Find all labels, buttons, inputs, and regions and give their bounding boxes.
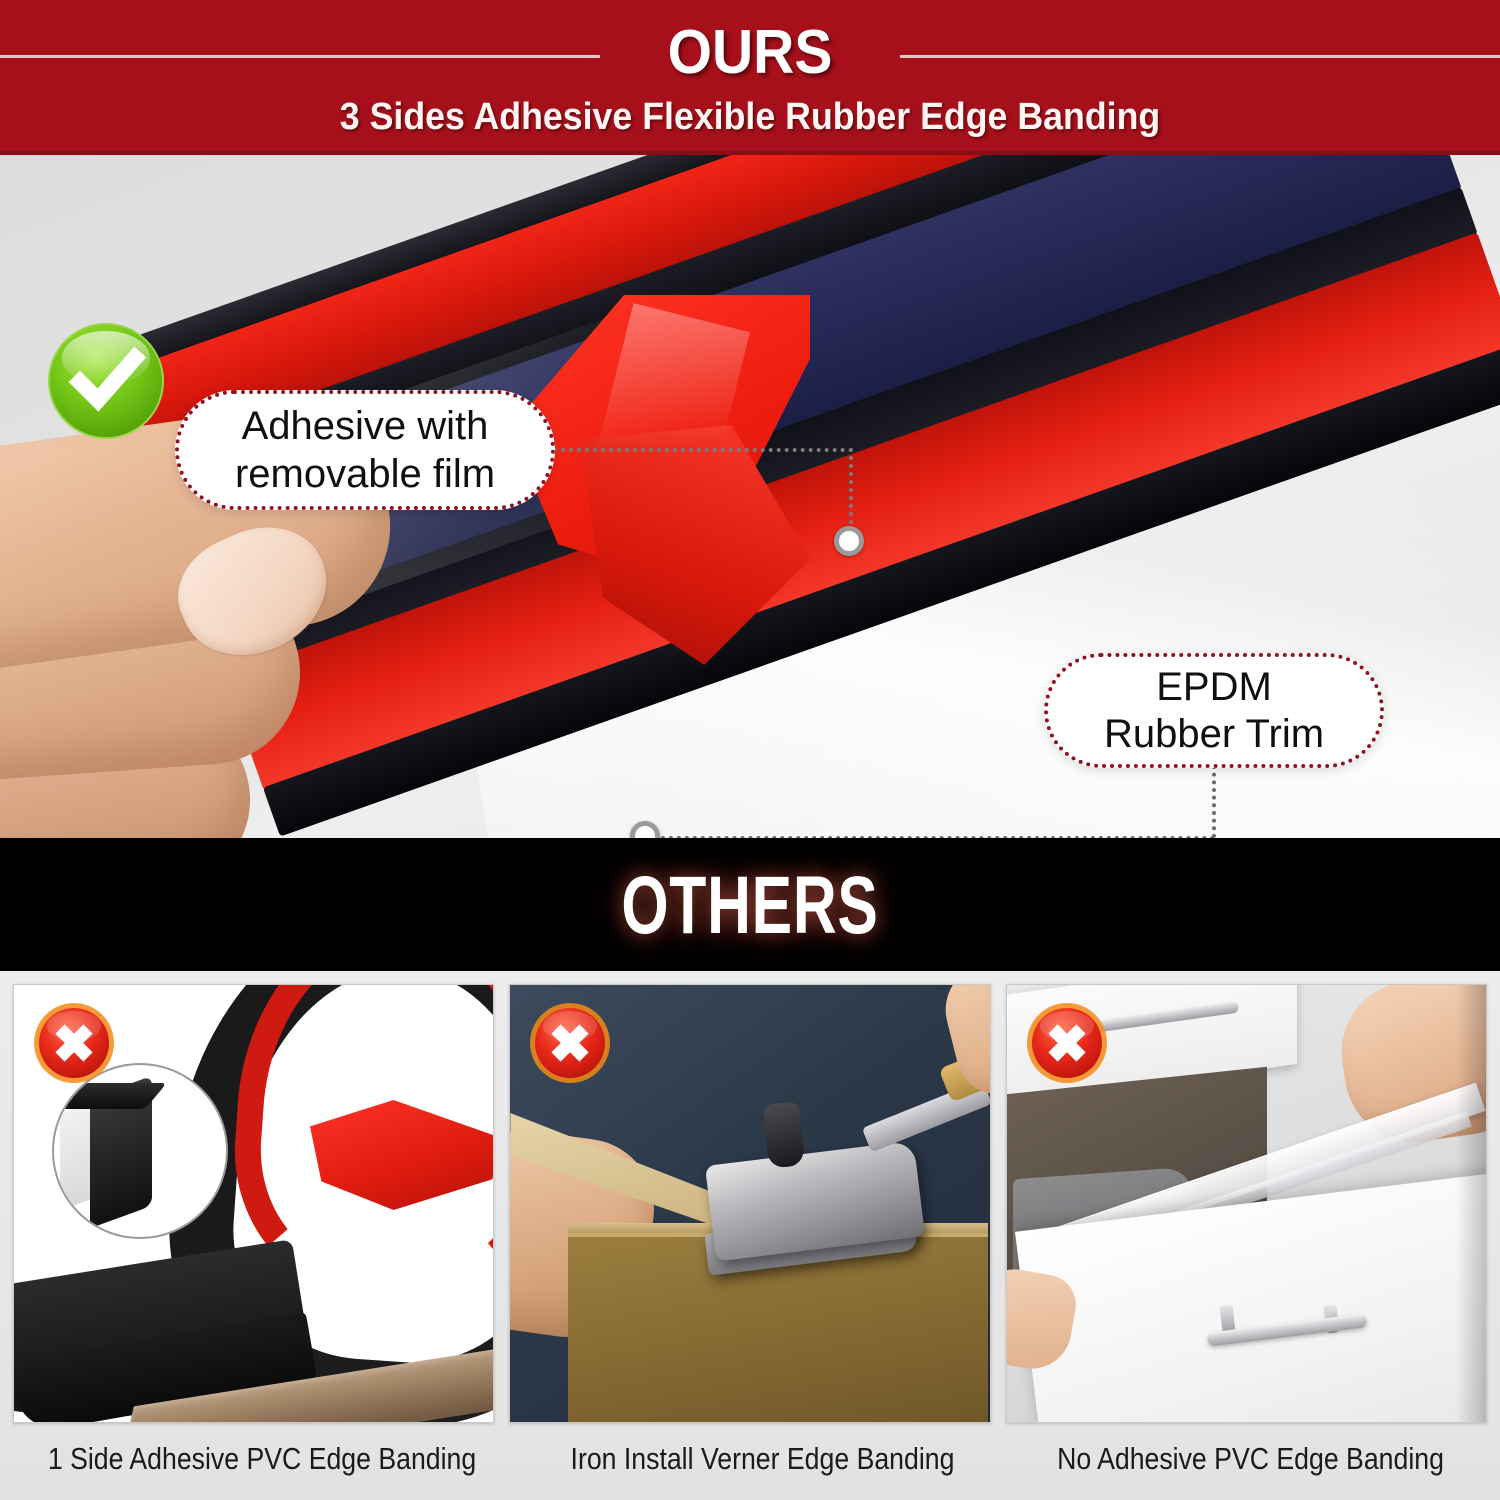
cross-section-inset-circle xyxy=(52,1063,228,1239)
caption-panel-1: 1 Side Adhesive PVC Edge Banding xyxy=(48,1437,476,1493)
infographic-page: OURS 3 Sides Adhesive Flexible Rubber Ed… xyxy=(0,0,1500,1500)
callout-epdm-rubber-trim: EPDM Rubber Trim xyxy=(1044,653,1384,768)
leader-line-epdm-vertical xyxy=(1212,765,1216,838)
callout-adhesive-removable-film: Adhesive with removable film xyxy=(175,390,555,510)
header-rule-right xyxy=(900,55,1500,58)
panel-edge-shadow xyxy=(1456,985,1486,1422)
others-header: OTHERS xyxy=(0,838,1500,971)
header-rule-left xyxy=(0,55,600,58)
marker-dot-adhesive xyxy=(834,526,864,556)
panel-captions: 1 Side Adhesive PVC Edge Banding Iron In… xyxy=(13,1437,1487,1493)
header-title-wrap: OURS xyxy=(634,8,865,98)
panel-row xyxy=(13,984,1487,1423)
hero-product-photo: Adhesive with removable film EPDM Rubber… xyxy=(0,155,1500,838)
leader-line-adhesive-horizontal xyxy=(553,448,853,452)
red-x-circle-icon xyxy=(528,1001,612,1085)
panel-iron-install-verner[interactable] xyxy=(509,984,990,1423)
marker-dot-epdm xyxy=(630,821,660,838)
iron-knob xyxy=(764,1102,805,1169)
callout-epdm-line1: EPDM xyxy=(1104,664,1324,711)
leader-line-epdm-horizontal xyxy=(645,836,1215,838)
others-panels-section: 1 Side Adhesive PVC Edge Banding Iron In… xyxy=(0,971,1500,1500)
caption-panel-2: Iron Install Verner Edge Banding xyxy=(559,1437,966,1493)
callout-adhesive-line1: Adhesive with xyxy=(235,402,495,450)
callout-epdm-line2: Rubber Trim xyxy=(1104,711,1324,758)
red-x-circle-icon xyxy=(1025,1001,1109,1085)
green-check-circle-icon xyxy=(47,322,165,440)
panel-no-adhesive-pvc[interactable] xyxy=(1006,984,1487,1423)
caption-panel-3: No Adhesive PVC Edge Banding xyxy=(1047,1437,1454,1493)
ours-header: OURS 3 Sides Adhesive Flexible Rubber Ed… xyxy=(0,0,1500,155)
panel-1-side-adhesive-pvc[interactable] xyxy=(13,984,494,1423)
header-subtitle: 3 Sides Adhesive Flexible Rubber Edge Ba… xyxy=(45,96,1455,139)
others-title: OTHERS xyxy=(195,848,1305,964)
red-x-circle-icon xyxy=(32,1001,116,1085)
callout-adhesive-line2: removable film xyxy=(235,450,495,498)
header-title: OURS xyxy=(668,8,833,98)
